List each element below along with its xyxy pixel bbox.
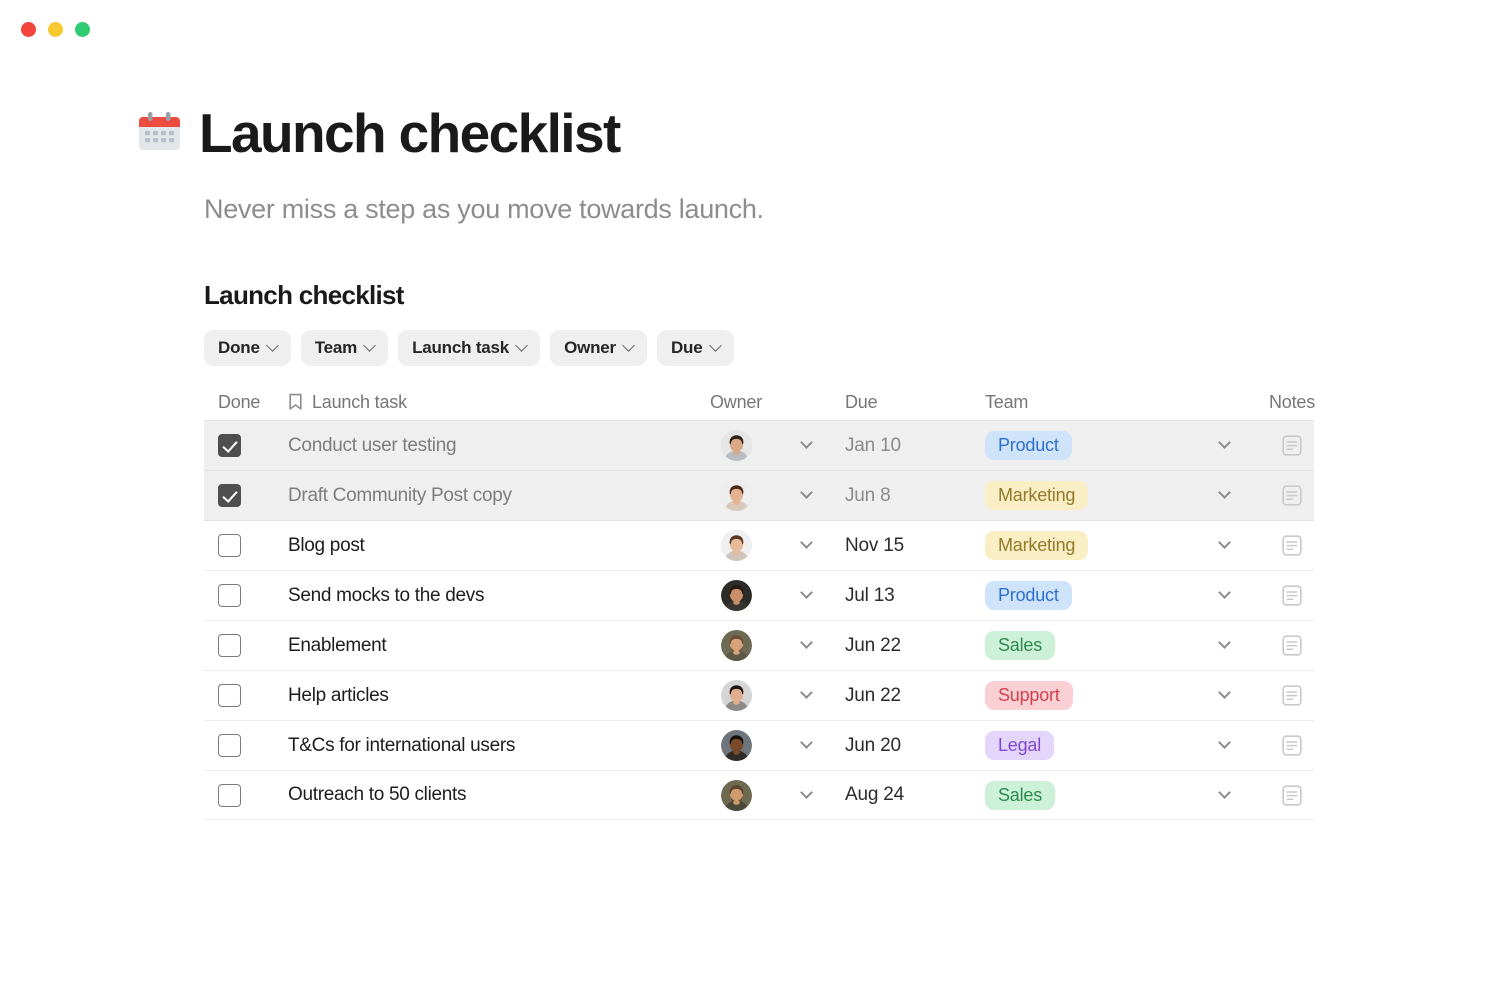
filter-pill-done-label: Done	[218, 338, 260, 358]
avatar	[721, 580, 752, 611]
notes-icon[interactable]	[1282, 435, 1302, 456]
table-heading: Launch checklist	[204, 280, 1309, 311]
done-cell	[204, 634, 282, 657]
team-cell[interactable]: Marketing	[980, 481, 1180, 510]
notes-icon[interactable]	[1282, 485, 1302, 506]
team-badge: Support	[985, 681, 1073, 710]
team-badge: Marketing	[985, 481, 1088, 510]
filter-pill-done[interactable]: Done	[204, 330, 291, 366]
owner-dropdown[interactable]	[782, 791, 830, 800]
team-cell[interactable]: Marketing	[980, 531, 1180, 560]
done-checkbox[interactable]	[218, 684, 241, 707]
checklist-table: Done Launch task Owner Due Team Notes	[204, 386, 1314, 820]
team-dropdown[interactable]	[1180, 741, 1268, 750]
filter-pill-due-label: Due	[671, 338, 703, 358]
team-dropdown[interactable]	[1180, 441, 1268, 450]
team-cell[interactable]: Product	[980, 581, 1180, 610]
owner-dropdown[interactable]	[782, 491, 830, 500]
owner-cell[interactable]	[690, 630, 782, 661]
chevron-down-icon	[1218, 536, 1231, 549]
chevron-down-icon	[1218, 636, 1231, 649]
maximize-window-button[interactable]	[75, 22, 90, 37]
owner-dropdown[interactable]	[782, 691, 830, 700]
done-checkbox[interactable]	[218, 784, 241, 807]
chevron-down-icon	[363, 339, 376, 352]
done-cell	[204, 584, 282, 607]
done-cell	[204, 484, 282, 507]
notes-icon[interactable]	[1282, 535, 1302, 556]
owner-cell[interactable]	[690, 580, 782, 611]
avatar	[721, 680, 752, 711]
table-body: Conduct user testing Jan 10 Product	[204, 420, 1314, 820]
page-content: Launch checklist Never miss a step as yo…	[0, 106, 1500, 820]
chevron-down-icon	[1218, 786, 1231, 799]
chevron-down-icon	[709, 339, 722, 352]
due-cell[interactable]: Jun 20	[830, 735, 980, 757]
done-cell	[204, 734, 282, 757]
due-cell[interactable]: Jun 22	[830, 635, 980, 657]
notes-cell[interactable]	[1268, 635, 1316, 656]
avatar	[721, 430, 752, 461]
due-cell[interactable]: Jul 13	[830, 585, 980, 607]
owner-dropdown[interactable]	[782, 591, 830, 600]
column-header-launch-task: Launch task	[282, 392, 690, 415]
avatar	[721, 480, 752, 511]
table-row[interactable]: Send mocks to the devs Jul 13 Product	[204, 570, 1314, 620]
task-label: Outreach to 50 clients	[288, 784, 466, 806]
notes-icon[interactable]	[1282, 635, 1302, 656]
task-cell[interactable]: Conduct user testing	[282, 435, 690, 457]
task-label: Help articles	[288, 685, 389, 707]
owner-dropdown[interactable]	[782, 641, 830, 650]
page-header: Launch checklist	[136, 106, 1460, 161]
owner-cell[interactable]	[690, 530, 782, 561]
team-dropdown[interactable]	[1180, 691, 1268, 700]
team-dropdown[interactable]	[1180, 641, 1268, 650]
avatar	[721, 630, 752, 661]
task-cell[interactable]: Help articles	[282, 685, 690, 707]
due-label: Aug 24	[845, 784, 904, 806]
chevron-down-icon	[800, 486, 813, 499]
chevron-down-icon	[800, 536, 813, 549]
calendar-icon	[136, 110, 183, 157]
done-checkbox[interactable]	[218, 734, 241, 757]
team-dropdown[interactable]	[1180, 541, 1268, 550]
task-label: Send mocks to the devs	[288, 585, 484, 607]
owner-cell[interactable]	[690, 730, 782, 761]
due-cell[interactable]: Jan 10	[830, 435, 980, 457]
chevron-down-icon	[1218, 736, 1231, 749]
due-label: Jun 22	[845, 685, 901, 707]
done-cell	[204, 534, 282, 557]
task-label: Draft Community Post copy	[288, 485, 512, 507]
due-cell[interactable]: Nov 15	[830, 535, 980, 557]
done-checkbox[interactable]	[218, 484, 241, 507]
owner-dropdown[interactable]	[782, 741, 830, 750]
page-title: Launch checklist	[199, 106, 620, 161]
due-cell[interactable]: Jun 22	[830, 685, 980, 707]
column-header-notes: Notes	[1268, 392, 1316, 415]
due-label: Jun 8	[845, 485, 890, 507]
due-label: Jan 10	[845, 435, 901, 457]
table-row[interactable]: Blog post Nov 15 Marketing	[204, 520, 1314, 570]
team-cell[interactable]: Product	[980, 431, 1180, 460]
column-header-done: Done	[204, 392, 282, 415]
notes-cell[interactable]	[1268, 785, 1316, 806]
column-header-team: Team	[980, 392, 1180, 415]
owner-cell[interactable]	[690, 430, 782, 461]
table-row[interactable]: Outreach to 50 clients Aug 24 Sales	[204, 770, 1314, 820]
avatar	[721, 530, 752, 561]
notes-cell[interactable]	[1268, 435, 1316, 456]
team-badge: Legal	[985, 731, 1054, 760]
window-titlebar	[0, 0, 1500, 58]
avatar	[721, 730, 752, 761]
table-row[interactable]: Conduct user testing Jan 10 Product	[204, 420, 1314, 470]
team-cell[interactable]: Sales	[980, 781, 1180, 810]
table-header-row: Done Launch task Owner Due Team Notes	[204, 386, 1314, 420]
notes-cell[interactable]	[1268, 735, 1316, 756]
close-window-button[interactable]	[21, 22, 36, 37]
done-checkbox[interactable]	[218, 534, 241, 557]
chevron-down-icon	[800, 436, 813, 449]
table-row[interactable]: T&Cs for international users Jun 20 Lega…	[204, 720, 1314, 770]
filter-pill-due[interactable]: Due	[657, 330, 734, 366]
due-cell[interactable]: Aug 24	[830, 784, 980, 806]
team-dropdown[interactable]	[1180, 791, 1268, 800]
notes-cell[interactable]	[1268, 485, 1316, 506]
task-cell[interactable]: Draft Community Post copy	[282, 485, 690, 507]
chevron-down-icon	[515, 339, 528, 352]
team-cell[interactable]: Legal	[980, 731, 1180, 760]
chevron-down-icon	[800, 686, 813, 699]
column-header-launch-task-label: Launch task	[312, 392, 407, 413]
notes-icon[interactable]	[1282, 585, 1302, 606]
chevron-down-icon	[1218, 436, 1231, 449]
notes-cell[interactable]	[1268, 585, 1316, 606]
due-label: Jun 20	[845, 735, 901, 757]
owner-dropdown[interactable]	[782, 441, 830, 450]
task-label: Blog post	[288, 535, 365, 557]
task-cell[interactable]: Send mocks to the devs	[282, 585, 690, 607]
table-row[interactable]: Help articles Jun 22 Support	[204, 670, 1314, 720]
notes-icon[interactable]	[1282, 685, 1302, 706]
team-cell[interactable]: Sales	[980, 631, 1180, 660]
owner-cell[interactable]	[690, 780, 782, 811]
filter-pill-owner[interactable]: Owner	[550, 330, 647, 366]
table-row[interactable]: Draft Community Post copy Jun 8 Marketin…	[204, 470, 1314, 520]
avatar	[721, 780, 752, 811]
team-badge: Product	[985, 581, 1072, 610]
task-cell[interactable]: T&Cs for international users	[282, 735, 690, 757]
done-cell	[204, 684, 282, 707]
team-badge: Sales	[985, 781, 1055, 810]
notes-cell[interactable]	[1268, 535, 1316, 556]
done-checkbox[interactable]	[218, 434, 241, 457]
chevron-down-icon	[1218, 586, 1231, 599]
notes-icon[interactable]	[1282, 785, 1302, 806]
done-checkbox[interactable]	[218, 584, 241, 607]
chevron-down-icon	[1218, 486, 1231, 499]
team-dropdown[interactable]	[1180, 491, 1268, 500]
done-checkbox[interactable]	[218, 634, 241, 657]
task-label: T&Cs for international users	[288, 735, 515, 757]
checklist-table-block: Launch checklist Done Team Launch task O…	[204, 280, 1309, 820]
table-row[interactable]: Enablement Jun 22 Sales	[204, 620, 1314, 670]
team-dropdown[interactable]	[1180, 591, 1268, 600]
chevron-down-icon	[800, 636, 813, 649]
owner-dropdown[interactable]	[782, 541, 830, 550]
minimize-window-button[interactable]	[48, 22, 63, 37]
chevron-down-icon	[800, 736, 813, 749]
team-badge: Marketing	[985, 531, 1088, 560]
bookmark-icon	[288, 393, 303, 411]
column-header-owner-spacer	[782, 402, 830, 404]
task-label: Enablement	[288, 635, 386, 657]
team-badge: Sales	[985, 631, 1055, 660]
task-cell[interactable]: Blog post	[282, 535, 690, 557]
filter-pill-team[interactable]: Team	[301, 330, 388, 366]
done-cell	[204, 434, 282, 457]
team-cell[interactable]: Support	[980, 681, 1180, 710]
task-cell[interactable]: Enablement	[282, 635, 690, 657]
chevron-down-icon	[1218, 686, 1231, 699]
due-label: Nov 15	[845, 535, 904, 557]
column-header-owner: Owner	[690, 392, 782, 415]
team-badge: Product	[985, 431, 1072, 460]
owner-cell[interactable]	[690, 680, 782, 711]
due-cell[interactable]: Jun 8	[830, 485, 980, 507]
task-label: Conduct user testing	[288, 435, 456, 457]
chevron-down-icon	[800, 586, 813, 599]
due-label: Jul 13	[845, 585, 895, 607]
due-label: Jun 22	[845, 635, 901, 657]
filter-pill-launch-task[interactable]: Launch task	[398, 330, 540, 366]
page-subtitle: Never miss a step as you move towards la…	[204, 194, 1460, 225]
chevron-down-icon	[266, 339, 279, 352]
column-header-due: Due	[830, 392, 980, 415]
filter-pill-launch-task-label: Launch task	[412, 338, 509, 358]
filter-bar: Done Team Launch task Owner Due	[204, 330, 1309, 366]
column-header-team-spacer	[1180, 402, 1268, 404]
notes-icon[interactable]	[1282, 735, 1302, 756]
chevron-down-icon	[622, 339, 635, 352]
task-cell[interactable]: Outreach to 50 clients	[282, 784, 690, 806]
chevron-down-icon	[800, 786, 813, 799]
filter-pill-owner-label: Owner	[564, 338, 616, 358]
notes-cell[interactable]	[1268, 685, 1316, 706]
owner-cell[interactable]	[690, 480, 782, 511]
filter-pill-team-label: Team	[315, 338, 357, 358]
done-cell	[204, 784, 282, 807]
